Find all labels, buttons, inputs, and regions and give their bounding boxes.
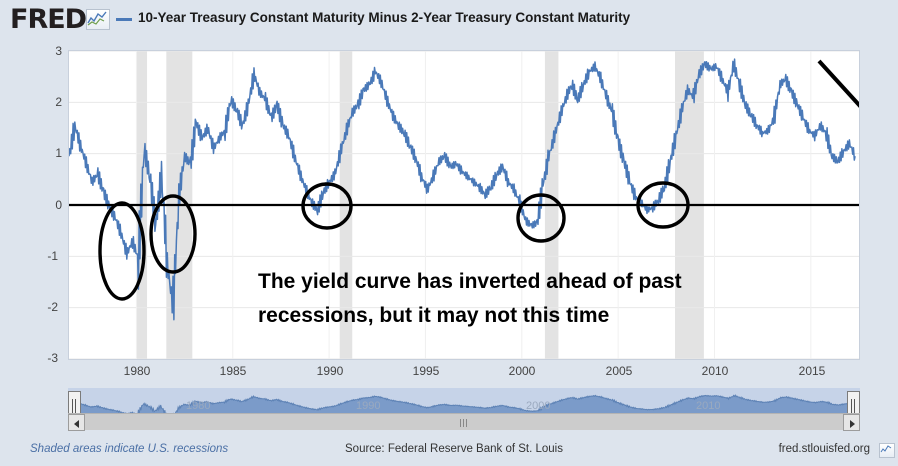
x-tick-2000: 2000 (497, 364, 547, 378)
fred-logo[interactable]: FRED. (10, 4, 90, 35)
navigator-label-2000: 2000 (526, 400, 550, 412)
fred-logo-text: FRED (10, 4, 86, 35)
x-tick-1985: 1985 (208, 364, 258, 378)
x-tick-2010: 2010 (690, 364, 740, 378)
navigator-label-2010: 2010 (696, 400, 720, 412)
annotation-group (100, 61, 859, 299)
y-tick-2: 2 (34, 95, 62, 109)
scroll-right-button[interactable] (843, 414, 860, 431)
legend-series-label[interactable]: 10-Year Treasury Constant Maturity Minus… (138, 10, 630, 25)
fred-chart-page: FRED. 10-Year Treasury Constant Maturity… (0, 0, 898, 466)
chevron-right-icon (850, 420, 855, 428)
grip-icon (72, 399, 73, 413)
x-tick-2015: 2015 (787, 364, 837, 378)
scrollbar-grip-icon (460, 419, 461, 427)
x-tick-1990: 1990 (305, 364, 355, 378)
y-tick-neg1: -1 (30, 249, 58, 263)
chevron-left-icon (74, 420, 79, 428)
source-note: Source: Federal Reserve Bank of St. Loui… (345, 443, 563, 455)
x-tick-1995: 1995 (401, 364, 451, 378)
recession-note: Shaded areas indicate U.S. recessions (30, 443, 228, 455)
navigator-label-1990: 1990 (356, 400, 380, 412)
chart-scrollbar[interactable] (68, 413, 860, 430)
callout-line-2: recessions, but it may not this time (258, 304, 609, 328)
callout-line-1: The yield curve has inverted ahead of pa… (258, 270, 682, 294)
scroll-left-button[interactable] (68, 414, 85, 431)
navigator-label-1980: 1980 (186, 400, 210, 412)
y-tick-neg2: -2 (30, 300, 58, 314)
chart-header: FRED. 10-Year Treasury Constant Maturity… (0, 0, 898, 40)
fred-badge-icon (879, 443, 895, 458)
x-tick-1980: 1980 (112, 364, 162, 378)
x-tick-2005: 2005 (594, 364, 644, 378)
chart-footer: Shaded areas indicate U.S. recessions So… (0, 440, 898, 466)
legend-color-swatch (116, 18, 132, 21)
mini-line-chart-icon (86, 9, 110, 30)
y-tick-1: 1 (34, 146, 62, 160)
down-right-arrow-annotation (819, 61, 859, 137)
y-tick-neg3: -3 (30, 351, 58, 365)
grip-icon (851, 399, 852, 413)
fred-url[interactable]: fred.stlouisfed.org (779, 443, 870, 455)
y-tick-3: 3 (34, 44, 62, 58)
y-tick-0: 0 (34, 198, 62, 212)
